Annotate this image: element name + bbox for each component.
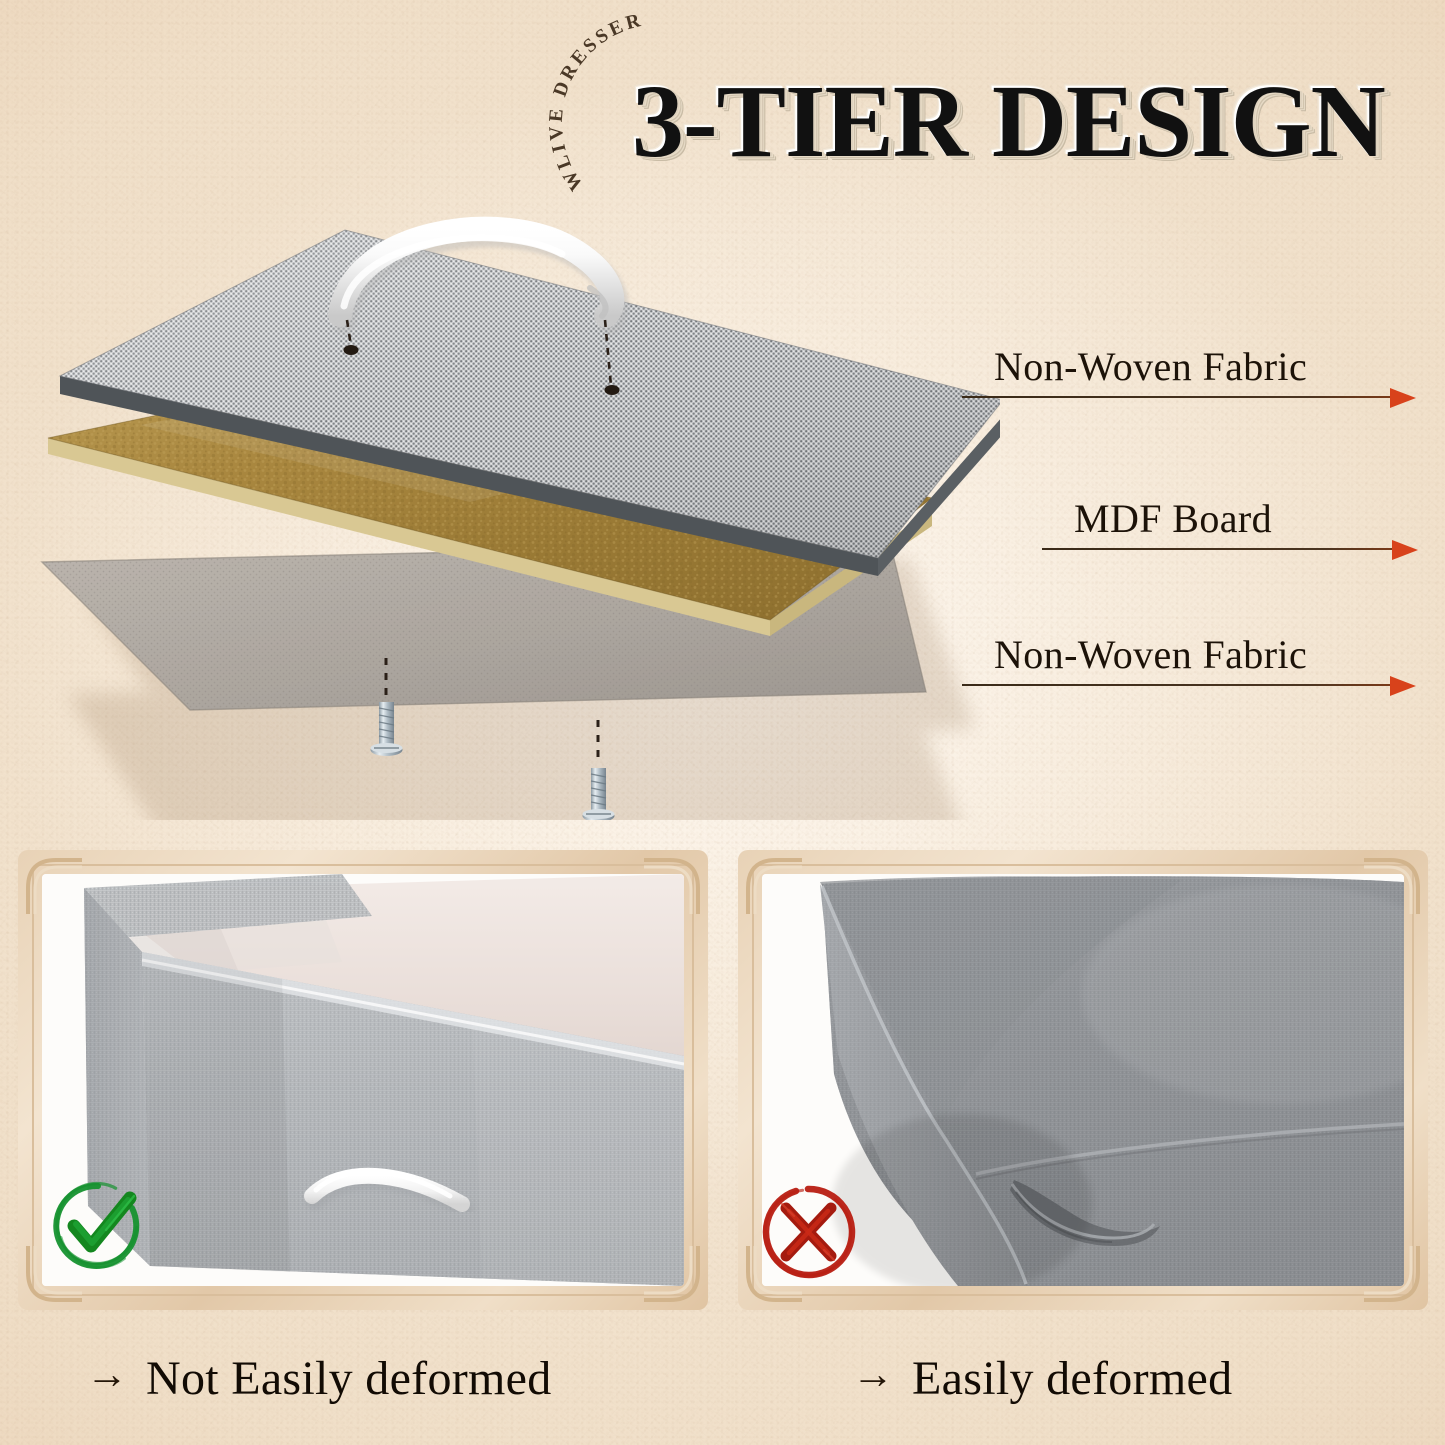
callout-mdf-board: MDF Board bbox=[1042, 482, 1432, 562]
red-cross-badge bbox=[756, 1180, 860, 1284]
caption-text: Not Easily deformed bbox=[146, 1351, 552, 1406]
panel-deformed bbox=[738, 850, 1428, 1310]
callout-arrow-icon bbox=[1390, 388, 1416, 408]
callout-leader-line bbox=[1042, 548, 1394, 550]
title-block: 3-TIER DESIGN 3-TIER DESIGN bbox=[632, 62, 1432, 182]
infographic-canvas: WLIVE DRESSER 3-TIER DESIGN 3-TIER DESIG… bbox=[0, 0, 1445, 1445]
callout-leader-line bbox=[962, 684, 1392, 686]
callout-arrow-icon bbox=[1392, 540, 1418, 560]
callout-arrow-icon bbox=[1390, 676, 1416, 696]
callout-label: MDF Board bbox=[1074, 495, 1272, 542]
callout-leader-line bbox=[962, 396, 1392, 398]
green-check-badge bbox=[46, 1174, 150, 1278]
caption-text: Easily deformed bbox=[912, 1351, 1232, 1406]
callout-non-woven-top: Non-Woven Fabric bbox=[962, 330, 1430, 410]
caption-not-deformed: → Not Easily deformed bbox=[86, 1338, 552, 1418]
caption-deformed: → Easily deformed bbox=[852, 1338, 1232, 1418]
callout-label: Non-Woven Fabric bbox=[994, 631, 1307, 678]
caption-arrow-icon: → bbox=[86, 1354, 128, 1396]
panel-not-deformed bbox=[18, 850, 708, 1310]
comparison-panels bbox=[0, 850, 1445, 1320]
exploded-layer-diagram bbox=[0, 180, 1000, 820]
caption-arrow-icon: → bbox=[852, 1354, 894, 1396]
callout-non-woven-bottom: Non-Woven Fabric bbox=[962, 618, 1430, 698]
page-title: 3-TIER DESIGN bbox=[632, 62, 1385, 182]
callout-label: Non-Woven Fabric bbox=[994, 343, 1307, 390]
